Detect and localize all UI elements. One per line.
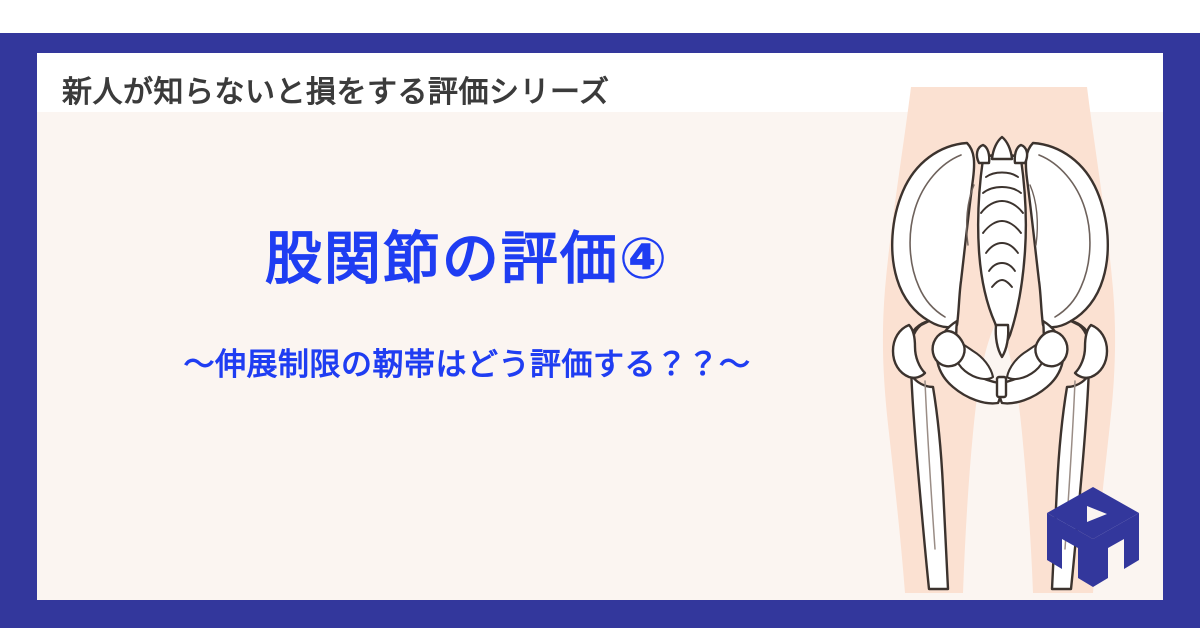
- headline-block: 股関節の評価④ 〜伸展制限の靭帯はどう評価する？？〜: [37, 228, 897, 384]
- cube-play-logo-icon: [1045, 485, 1141, 589]
- series-header-text: 新人が知らないと損をする評価シリーズ: [62, 67, 610, 111]
- cube-play-logo-svg: [1045, 485, 1141, 589]
- page-subtitle: 〜伸展制限の靭帯はどう評価する？？〜: [37, 339, 897, 384]
- slide-canvas: 新人が知らないと損をする評価シリーズ: [0, 0, 1200, 628]
- slide-card: 新人が知らないと損をする評価シリーズ: [37, 53, 1163, 600]
- page-title: 股関節の評価④: [37, 228, 897, 291]
